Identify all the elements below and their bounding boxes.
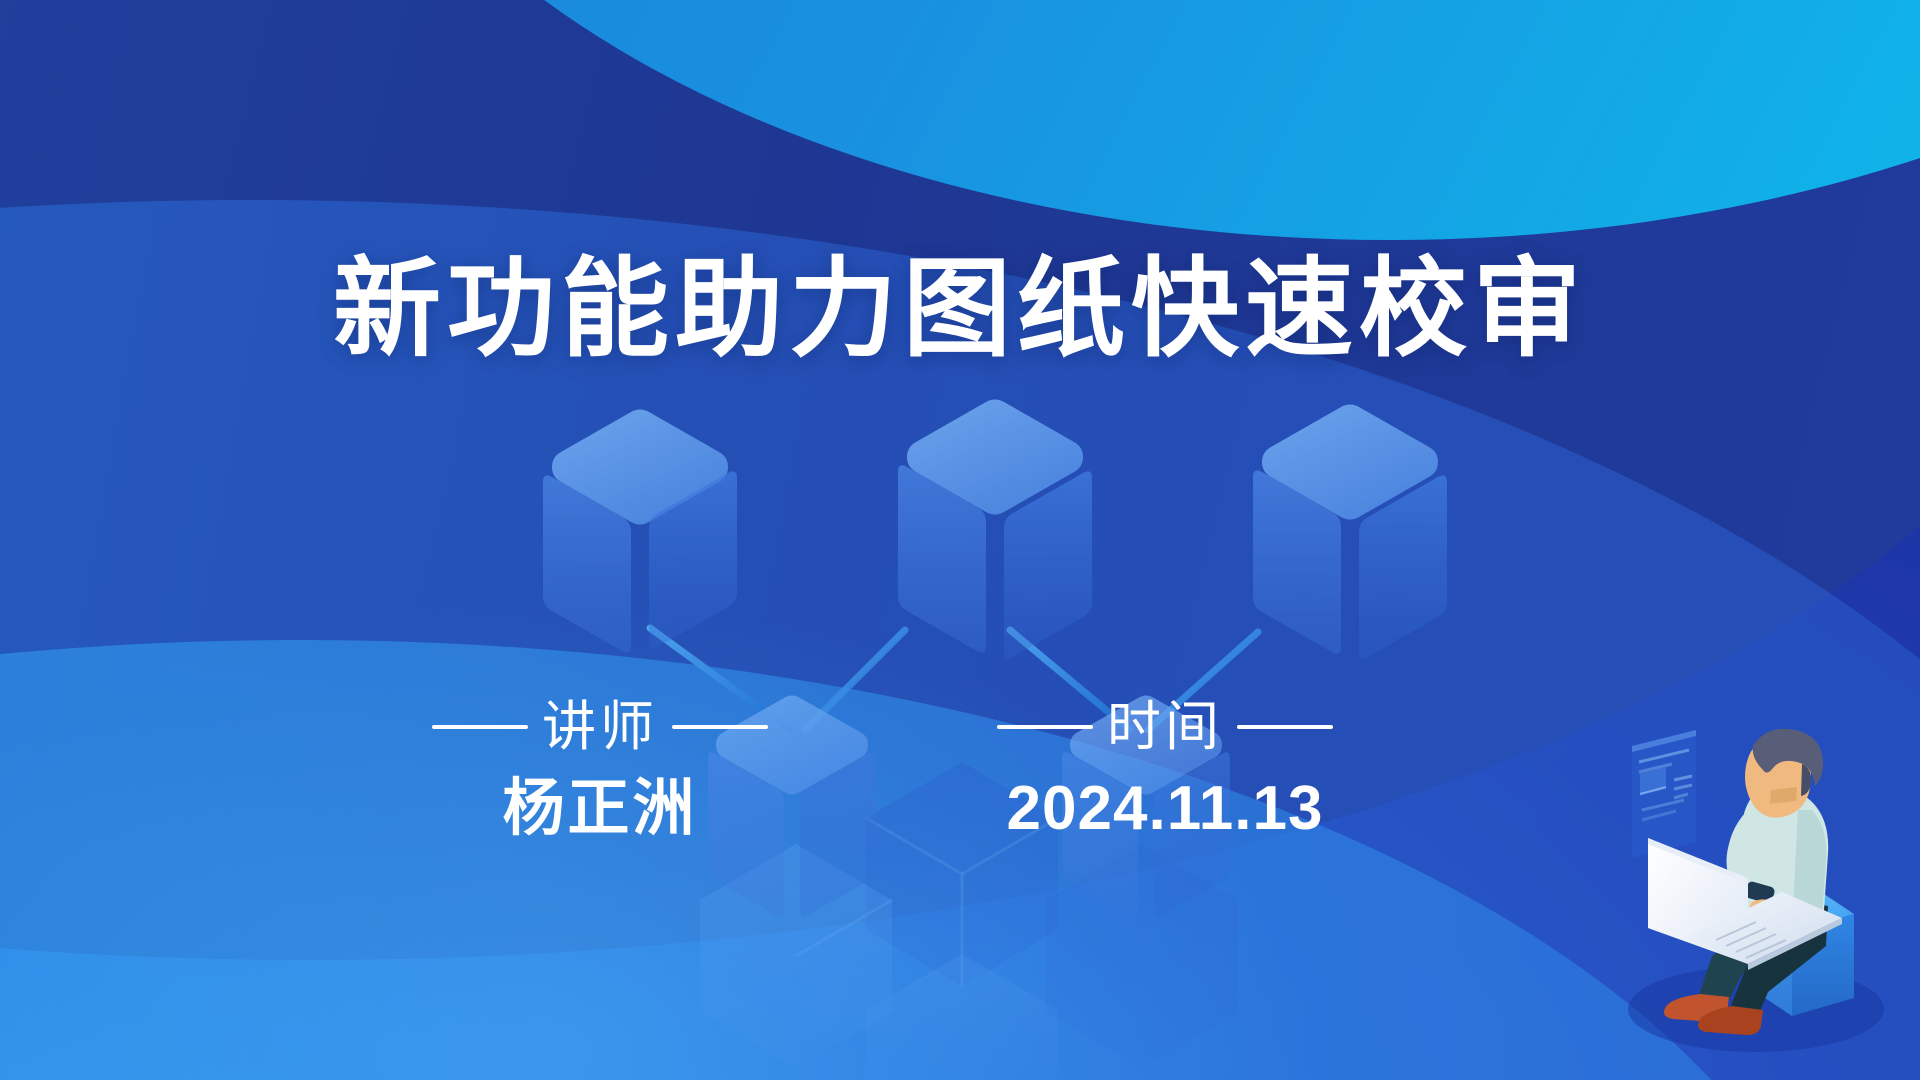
page-title: 新功能助力图纸快速校审 — [0, 252, 1920, 365]
rule-right-icon — [672, 725, 768, 729]
poster-canvas: 新功能助力图纸快速校审 讲师 杨正洲 时间 2024.11.13 — [0, 0, 1920, 1080]
rule-left-icon — [997, 725, 1093, 729]
rule-left-icon — [432, 725, 528, 729]
time-label: 时间 — [1107, 700, 1223, 754]
info-block-speaker: 讲师 杨正洲 — [400, 700, 800, 843]
speaker-label: 讲师 — [542, 700, 658, 754]
time-heading: 时间 — [965, 700, 1365, 754]
speaker-heading: 讲师 — [400, 700, 800, 754]
info-block-time: 时间 2024.11.13 — [965, 700, 1365, 843]
illustration-person-with-laptop — [1606, 706, 1906, 1078]
floating-ui-panel-icon — [1632, 730, 1696, 858]
info-row: 讲师 杨正洲 时间 2024.11.13 — [400, 700, 1580, 843]
speaker-name: 杨正洲 — [400, 776, 800, 843]
rule-right-icon — [1237, 725, 1333, 729]
event-date: 2024.11.13 — [965, 776, 1365, 843]
